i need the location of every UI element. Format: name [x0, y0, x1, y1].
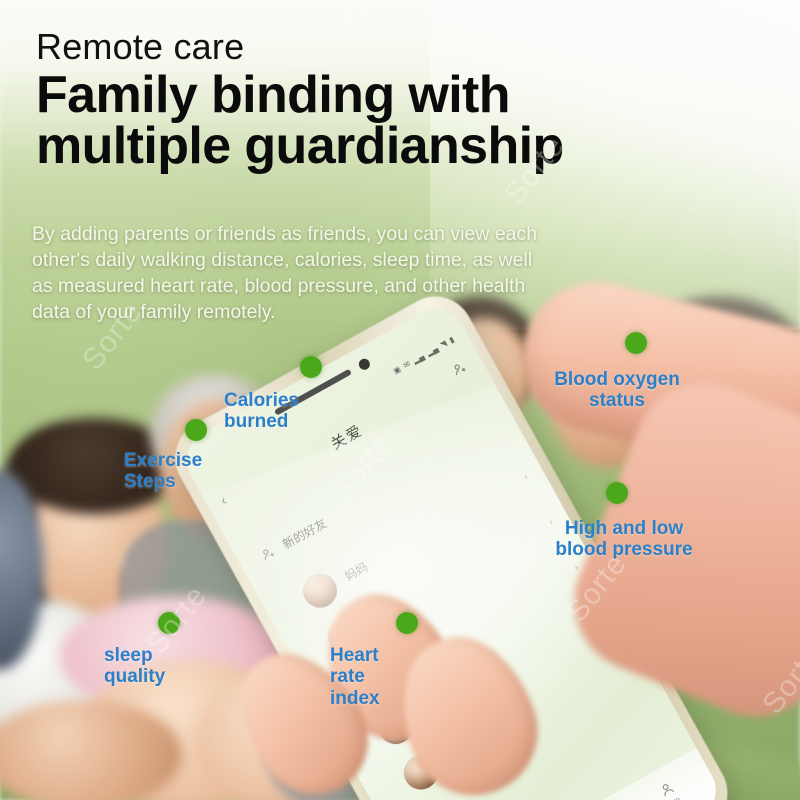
callout-dot: [158, 612, 180, 634]
battery-icon: ▮: [447, 334, 455, 344]
callout-label: Heart rate index: [330, 645, 380, 709]
app-badge-icon: ▣: [391, 364, 402, 376]
signal-icon: ▂▄: [425, 343, 440, 357]
callout-dot: [606, 482, 628, 504]
page-title: Family binding with multiple guardianshi…: [36, 70, 776, 173]
kicker-text: Remote care: [36, 28, 776, 66]
callout-label: High and low blood pressure: [524, 518, 724, 561]
body-paragraph: By adding parents or friends as friends,…: [32, 222, 748, 326]
tab-mine[interactable]: 我的: [656, 778, 684, 800]
callout-dot: [185, 419, 207, 441]
callout-dot: [396, 612, 418, 634]
callout-label: sleep quality: [104, 645, 165, 688]
callout-dot: [625, 332, 647, 354]
headline-block: Remote care Family binding with multiple…: [36, 28, 776, 173]
callout-dot: [300, 356, 322, 378]
promo-stage: ▣ ✉ ▂▄ ▂▄ ◥ ▮ ‹ 关爱: [0, 0, 800, 800]
mail-icon: ✉: [401, 359, 411, 370]
callout-label: Exercise Steps: [124, 450, 202, 493]
callout-label: Blood oxygen status: [527, 369, 707, 412]
callout-label: Calories burned: [224, 390, 299, 433]
front-camera-icon: [357, 357, 372, 372]
signal-icon: ▂▄: [411, 351, 426, 365]
wifi-icon: ◥: [439, 338, 449, 349]
